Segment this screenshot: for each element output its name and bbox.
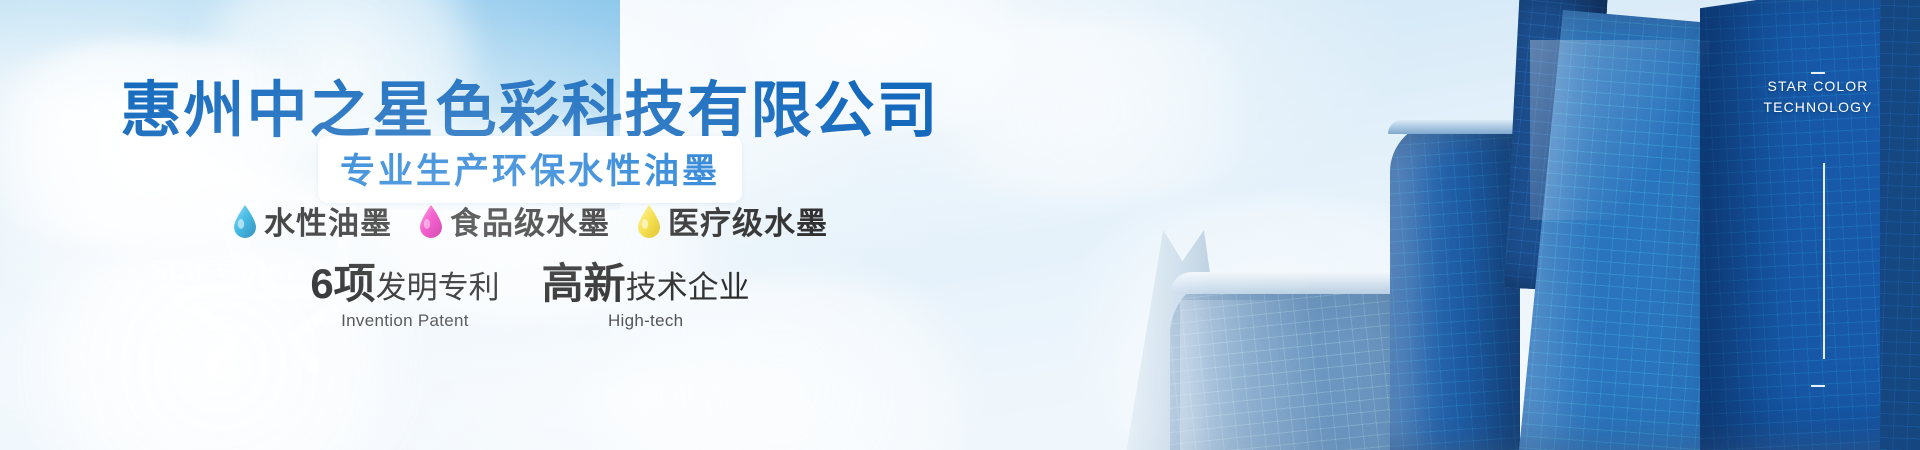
credential-rest: 技术企业 bbox=[626, 270, 750, 305]
credential-high-tech-enterprise: 高新技术企业 High-tech bbox=[542, 262, 750, 331]
overlay-tick-bottom bbox=[1811, 385, 1825, 387]
banner-content: 惠州中之星色彩科技有限公司 专业生产环保水性油墨 bbox=[0, 0, 1180, 450]
feature-label: 医疗级水墨 bbox=[668, 198, 828, 243]
credential-english-label: Invention Patent bbox=[310, 311, 499, 331]
credential-rest: 发明专利 bbox=[376, 270, 500, 305]
credentials-list: 6项发明专利 Invention Patent 高新技术企业 High-tech bbox=[0, 262, 1060, 331]
subtitle-badge: 专业生产环保水性油墨 bbox=[318, 136, 742, 203]
water-drop-icon bbox=[232, 204, 258, 238]
credential-headline: 6项发明专利 bbox=[310, 262, 499, 306]
overlay-tick-top bbox=[1811, 72, 1825, 74]
credential-invention-patent: 6项发明专利 Invention Patent bbox=[310, 262, 499, 331]
credential-highlight: 6项 bbox=[310, 260, 375, 307]
overlay-vertical-rule bbox=[1823, 163, 1825, 359]
skyscraper-photo: STAR COLOR TECHNOLOGY bbox=[1060, 0, 1920, 450]
company-hero-banner: Star Color bbox=[0, 0, 1920, 450]
credential-headline: 高新技术企业 bbox=[542, 262, 750, 306]
credential-english-label: High-tech bbox=[542, 311, 750, 331]
subtitle-container: 专业生产环保水性油墨 bbox=[0, 136, 1060, 203]
feature-item-water-based-ink: 水性油墨 bbox=[232, 198, 392, 243]
feature-label: 食品级水墨 bbox=[450, 198, 610, 243]
feature-label: 水性油墨 bbox=[264, 198, 392, 243]
water-drop-icon bbox=[636, 204, 662, 238]
product-feature-list: 水性油墨 bbox=[0, 198, 1060, 243]
water-drop-icon bbox=[418, 204, 444, 238]
feature-item-medical-grade-ink: 医疗级水墨 bbox=[636, 198, 828, 243]
feature-item-food-grade-ink: 食品级水墨 bbox=[418, 198, 610, 243]
credential-highlight: 高新 bbox=[542, 260, 626, 307]
